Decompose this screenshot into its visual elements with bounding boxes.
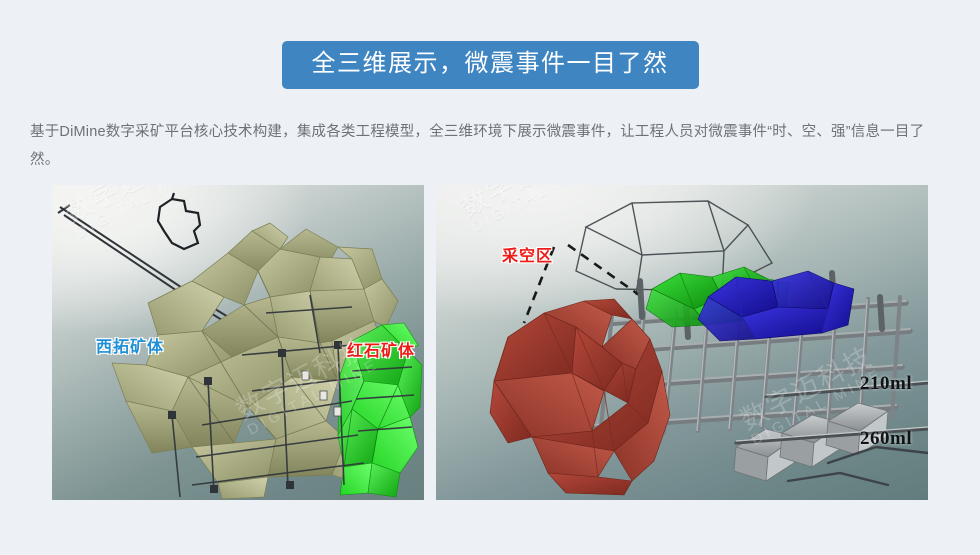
- figures-row: 数字迈科技 DIGITAL MINE 数字迈科技 DIGITAL MINE 西拓…: [52, 185, 928, 500]
- description-paragraph: 基于DiMine数字采矿平台核心技术构建，集成各类工程模型，全三维环境下展示微震…: [30, 118, 952, 174]
- banner-container: 全三维展示，微震事件一目了然: [0, 40, 980, 90]
- goaf-3d-view[interactable]: 数字迈科技 DIGITAL MINE 数字迈科技 DIGITAL MINE 数字…: [436, 185, 928, 500]
- goaf-3d-scene: [436, 185, 928, 500]
- orebody-3d-scene: [52, 185, 424, 500]
- page-title-banner: 全三维展示，微震事件一目了然: [282, 41, 699, 89]
- orebody-3d-view[interactable]: 数字迈科技 DIGITAL MINE 数字迈科技 DIGITAL MINE 西拓…: [52, 185, 424, 500]
